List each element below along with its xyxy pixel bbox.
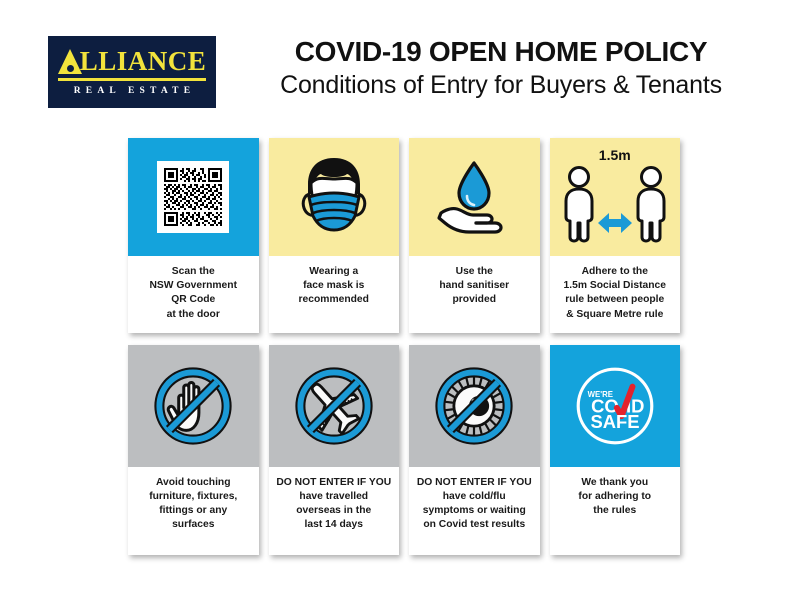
poster-header: LLIANCE REAL ESTATE COVID-19 OPEN HOME P… [0,36,800,118]
card-qr-code: Scan the NSW Government QR Code at the d… [128,138,259,333]
caption-line: Adhere to the [554,265,677,279]
caption-line: face mask is [273,279,396,293]
qr-code-icon [157,161,229,233]
caption-line: DO NOT ENTER IF YOU [413,476,536,490]
card-art-no-touching [128,345,259,467]
card-caption-face-mask: Wearing a face mask is recommended [269,256,400,333]
caption-line: have cold/flu [413,490,536,504]
covid-safe-badge-icon: WE'RE CO ID SAFE [569,360,661,452]
distance-label: 1.5m [550,147,681,163]
card-no-travel: DO NOT ENTER IF YOU have travelled overs… [269,345,400,555]
card-social-distance: 1.5m Adhere to the 1.5m Social Dista [550,138,681,333]
caption-line: rule between people [554,293,677,307]
caption-line: fittings or any [132,504,255,518]
caption-line: the rules [554,504,677,518]
caption-line: provided [413,293,536,307]
policy-card-grid: Scan the NSW Government QR Code at the d… [128,138,680,567]
no-touching-hand-icon [151,364,235,448]
caption-line: Use the [413,265,536,279]
caption-line: Scan the [132,265,255,279]
logo-wordmark: LLIANCE [58,48,207,81]
caption-line: QR Code [132,293,255,307]
hand-sanitiser-icon [429,155,519,239]
card-art-hand-sanitiser [409,138,540,256]
caption-line: DO NOT ENTER IF YOU [273,476,396,490]
card-caption-no-travel: DO NOT ENTER IF YOU have travelled overs… [269,467,400,555]
caption-line: on Covid test results [413,518,536,532]
card-art-social-distance: 1.5m [550,138,681,256]
card-caption-social-distance: Adhere to the 1.5m Social Distance rule … [550,256,681,333]
caption-line: & Square Metre rule [554,308,677,322]
card-no-touching: Avoid touching furniture, fixtures, fitt… [128,345,259,555]
face-mask-icon [295,154,373,240]
logo-letter-a-counter-icon [67,65,74,72]
caption-line: hand sanitiser [413,279,536,293]
caption-line: NSW Government [132,279,255,293]
caption-line: overseas in the [273,504,396,518]
card-art-no-travel [269,345,400,467]
card-caption-no-symptoms: DO NOT ENTER IF YOU have cold/flu sympto… [409,467,540,555]
caption-line: symptoms or waiting [413,504,536,518]
card-row-bottom: Avoid touching furniture, fixtures, fitt… [128,345,680,555]
page-subtitle: Conditions of Entry for Buyers & Tenants [236,70,766,101]
card-hand-sanitiser: Use the hand sanitiser provided [409,138,540,333]
no-symptoms-eye-icon [432,364,516,448]
caption-line: recommended [273,293,396,307]
card-art-qr [128,138,259,256]
caption-line: We thank you [554,476,677,490]
card-art-face-mask [269,138,400,256]
caption-line: last 14 days [273,518,396,532]
caption-line: 1.5m Social Distance [554,279,677,293]
card-no-symptoms: DO NOT ENTER IF YOU have cold/flu sympto… [409,345,540,555]
card-face-mask: Wearing a face mask is recommended [269,138,400,333]
page-title: COVID-19 OPEN HOME POLICY [236,36,766,68]
caption-line: Avoid touching [132,476,255,490]
caption-line: have travelled [273,490,396,504]
card-row-top: Scan the NSW Government QR Code at the d… [128,138,680,333]
card-caption-hand-sanitiser: Use the hand sanitiser provided [409,256,540,333]
covid-safe-line2: SAFE [590,411,639,432]
caption-line: furniture, fixtures, [132,490,255,504]
no-air-travel-icon [292,364,376,448]
caption-line: surfaces [132,518,255,532]
logo-subtitle: REAL ESTATE [69,86,196,96]
social-distance-icon [557,165,673,245]
card-covid-safe: WE'RE CO ID SAFE We thank you for adheri… [550,345,681,555]
caption-line: at the door [132,308,255,322]
title-block: COVID-19 OPEN HOME POLICY Conditions of … [236,36,766,101]
card-caption-no-touching: Avoid touching furniture, fixtures, fitt… [128,467,259,555]
card-art-covid-safe: WE'RE CO ID SAFE [550,345,681,467]
logo-word-text: LLIANCE [80,46,207,76]
card-caption-qr: Scan the NSW Government QR Code at the d… [128,256,259,333]
covid-policy-poster: LLIANCE REAL ESTATE COVID-19 OPEN HOME P… [0,0,800,600]
caption-line: for adhering to [554,490,677,504]
alliance-real-estate-logo: LLIANCE REAL ESTATE [48,36,216,108]
card-caption-covid-safe: We thank you for adhering to the rules [550,467,681,555]
card-art-no-symptoms [409,345,540,467]
caption-line: Wearing a [273,265,396,279]
